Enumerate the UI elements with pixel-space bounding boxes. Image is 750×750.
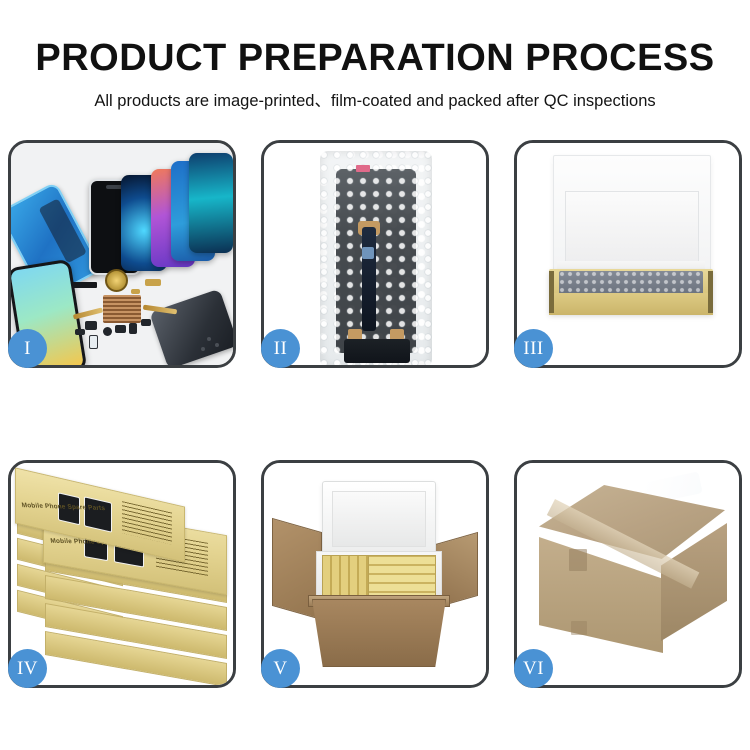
foam-sheet-icon — [565, 191, 699, 269]
small-part-icon — [129, 323, 137, 334]
tray-corner-icon — [708, 271, 713, 313]
step-3-image — [517, 143, 739, 365]
page-subtitle: All products are image-printed、film-coat… — [0, 80, 750, 111]
process-step-card-5[interactable]: V — [261, 460, 489, 688]
step-6-image — [517, 463, 739, 685]
step-badge-6: VI — [514, 649, 553, 688]
carton-body-icon — [312, 599, 446, 667]
pink-label-icon — [356, 165, 370, 172]
gold-connector-icon — [131, 289, 140, 294]
small-part-icon — [103, 327, 112, 336]
small-part-icon — [85, 321, 97, 330]
step-1-image — [11, 143, 233, 365]
chip-grid-icon — [103, 295, 141, 323]
box-artwork-icon — [84, 496, 112, 532]
process-step-card-3[interactable]: III — [514, 140, 742, 368]
small-part-icon — [141, 319, 151, 326]
step-badge-5: V — [261, 649, 300, 688]
screw-icon — [201, 347, 205, 351]
flex-cable-icon — [362, 227, 376, 331]
bubble-wrap-icon — [320, 151, 432, 365]
small-part-icon — [75, 329, 85, 335]
process-step-card-2[interactable]: II — [261, 140, 489, 368]
bubble-texture-icon — [320, 151, 432, 365]
phone-display-cyan-icon — [189, 153, 233, 253]
page-header: PRODUCT PREPARATION PROCESS All products… — [0, 0, 750, 111]
small-part-icon — [89, 335, 98, 349]
copper-coil-icon — [105, 269, 128, 292]
step-5-image — [264, 463, 486, 685]
screen-bottom-icon — [344, 339, 410, 363]
step-2-image — [264, 143, 486, 365]
step-4-image: Mobile Phone Spare Parts Mobile Phone Sp… — [11, 463, 233, 685]
process-step-grid: I II — [8, 140, 742, 688]
tray-corner-icon — [549, 271, 554, 313]
process-step-card-1[interactable]: I — [8, 140, 236, 368]
step-badge-1: I — [8, 329, 47, 368]
process-step-card-4[interactable]: Mobile Phone Spare Parts Mobile Phone Sp… — [8, 460, 236, 688]
foam-lid-inner-icon — [332, 491, 426, 547]
packed-items-icon — [559, 271, 703, 295]
carton-tab-icon — [569, 549, 587, 571]
box-spec-lines — [122, 501, 172, 545]
chip-icon — [362, 247, 374, 259]
process-step-card-6[interactable]: VI — [514, 460, 742, 688]
step-badge-2: II — [261, 329, 300, 368]
tray-front-face-icon — [549, 293, 713, 315]
screw-icon — [215, 343, 219, 347]
carton-tab-icon — [571, 621, 587, 635]
gold-connector-icon — [145, 279, 161, 286]
step-badge-4: IV — [8, 649, 47, 688]
box-stack-icon: Mobile Phone Spare Parts Mobile Phone Sp… — [11, 463, 233, 685]
earpiece-mesh-icon — [73, 282, 97, 288]
screw-icon — [207, 337, 211, 341]
small-part-icon — [115, 325, 126, 333]
step-badge-3: III — [514, 329, 553, 368]
page-title: PRODUCT PREPARATION PROCESS — [0, 0, 750, 80]
